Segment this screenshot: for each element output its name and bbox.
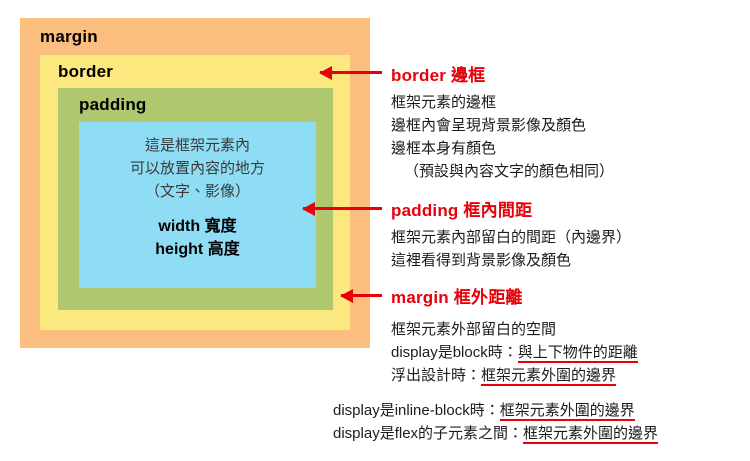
padding-callout-arrow-icon — [303, 207, 382, 210]
margin-annotation-line-2: display是block時：與上下物件的距離 — [391, 342, 638, 365]
border-annotation-line-1: 框架元素的邊框 — [391, 92, 614, 115]
border-annotation: border 邊框 框架元素的邊框 邊框內會呈現背景影像及顏色 邊框本身有顏色 … — [391, 61, 614, 184]
padding-annotation-heading: padding 框內間距 — [391, 196, 631, 221]
extra-line-1-prefix: display是inline-block時： — [333, 402, 500, 419]
margin-box-label: margin — [40, 27, 98, 47]
padding-annotation-line-2: 這裡看得到背景影像及顏色 — [391, 250, 631, 273]
margin-line-2-prefix: display是block時： — [391, 344, 518, 361]
box-model-diagram: 這是框架元素內 可以放置內容的地方 （文字、影像） width 寬度 heigh… — [0, 0, 750, 461]
border-annotation-heading: border 邊框 — [391, 61, 614, 86]
content-text-line-1: 這是框架元素內 — [145, 135, 250, 158]
height-label: height 高度 — [155, 239, 239, 262]
padding-box-label: padding — [79, 95, 147, 115]
margin-annotation-heading: margin 框外距離 — [391, 283, 638, 308]
margin-annotation-line-1: 框架元素外部留白的空間 — [391, 319, 638, 342]
border-annotation-body: 框架元素的邊框 邊框內會呈現背景影像及顏色 邊框本身有顏色 （預設與內容文字的顏… — [391, 92, 614, 184]
extra-annotation-line-1: display是inline-block時：框架元素外圍的邊界 — [333, 399, 658, 422]
margin-annotation: margin 框外距離 框架元素外部留白的空間 display是block時：與… — [391, 283, 638, 388]
content-box: 這是框架元素內 可以放置內容的地方 （文字、影像） width 寬度 heigh… — [79, 122, 316, 288]
content-text-line-3: （文字、影像） — [145, 181, 250, 204]
border-callout-arrow-icon — [320, 71, 382, 74]
border-box-label: border — [58, 62, 113, 82]
margin-annotation-body: 框架元素外部留白的空間 display是block時：與上下物件的距離 浮出設計… — [391, 319, 638, 388]
extra-annotation-line-2: display是flex的子元素之間：框架元素外圍的邊界 — [333, 422, 658, 445]
margin-line-2-underlined: 與上下物件的距離 — [518, 344, 638, 363]
padding-annotation-body: 框架元素內部留白的間距（內邊界） 這裡看得到背景影像及顏色 — [391, 227, 631, 273]
border-annotation-line-3: 邊框本身有顏色 — [391, 138, 614, 161]
border-annotation-line-2: 邊框內會呈現背景影像及顏色 — [391, 115, 614, 138]
border-annotation-line-4: （預設與內容文字的顏色相同） — [391, 161, 614, 184]
margin-callout-arrow-icon — [341, 294, 382, 297]
content-dimensions: width 寬度 height 高度 — [155, 216, 239, 261]
margin-line-3-prefix: 浮出設計時： — [391, 367, 481, 384]
margin-line-3-underlined: 框架元素外圍的邊界 — [481, 367, 616, 386]
padding-annotation: padding 框內間距 框架元素內部留白的間距（內邊界） 這裡看得到背景影像及… — [391, 196, 631, 273]
padding-annotation-line-1: 框架元素內部留白的間距（內邊界） — [391, 227, 631, 250]
content-text-line-2: 可以放置內容的地方 — [130, 158, 265, 181]
width-label: width 寬度 — [155, 216, 239, 239]
extra-line-2-prefix: display是flex的子元素之間： — [333, 425, 523, 442]
extra-annotation: display是inline-block時：框架元素外圍的邊界 display是… — [333, 399, 658, 446]
extra-line-1-underlined: 框架元素外圍的邊界 — [500, 402, 635, 421]
margin-annotation-line-3: 浮出設計時：框架元素外圍的邊界 — [391, 365, 638, 388]
extra-line-2-underlined: 框架元素外圍的邊界 — [523, 425, 658, 444]
